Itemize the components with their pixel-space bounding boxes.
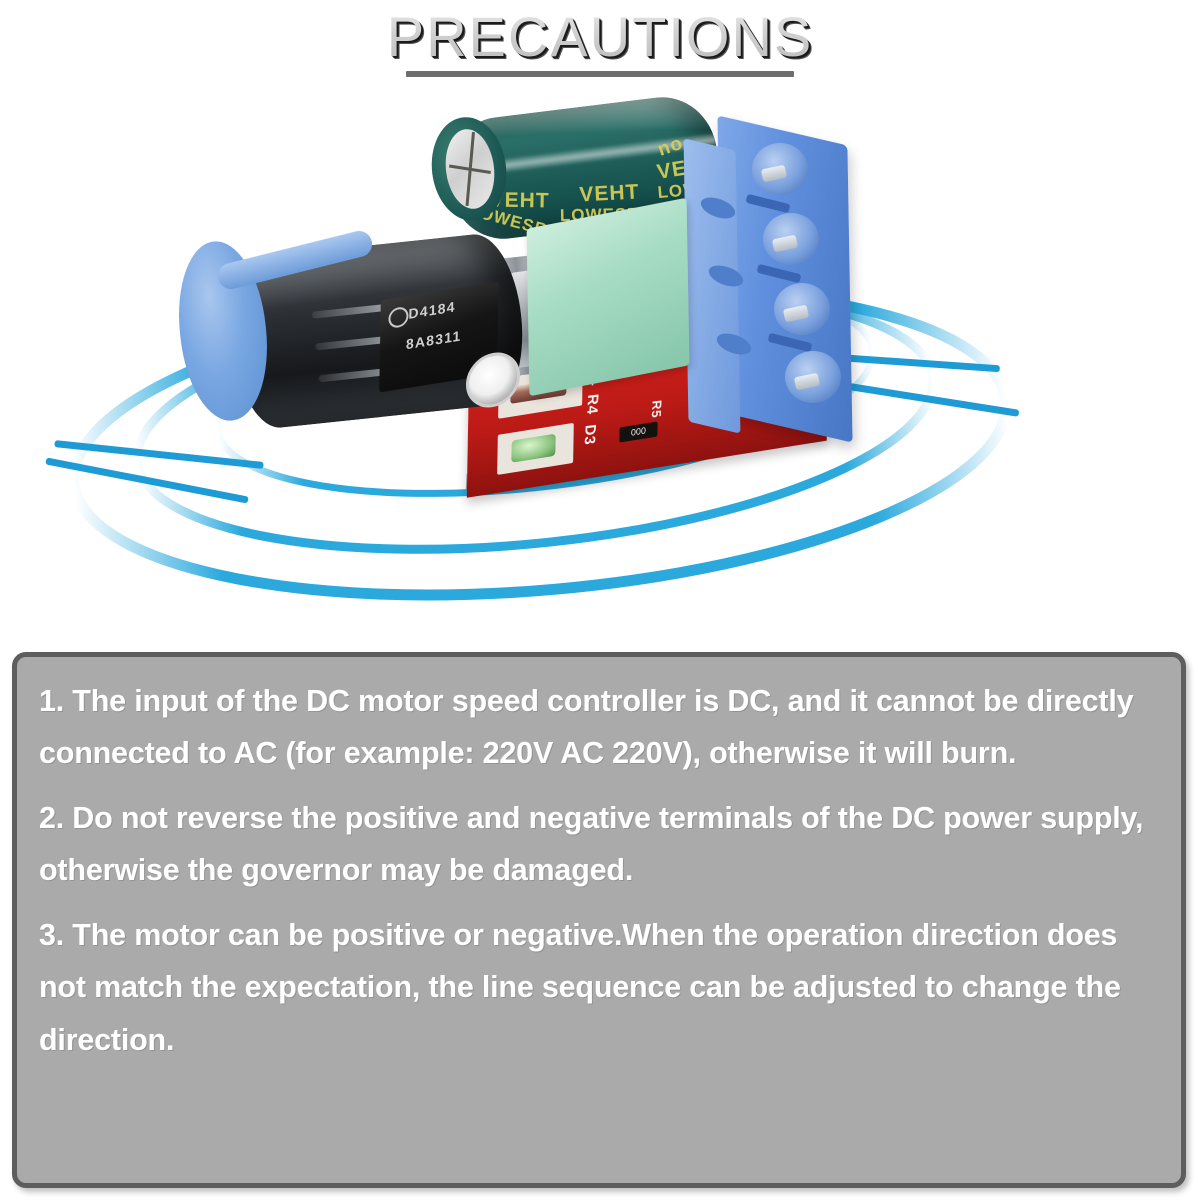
mosfet-part-number: D4184	[408, 298, 456, 322]
precautions-panel: 1. The input of the DC motor speed contr…	[12, 652, 1186, 1188]
silkscreen-r4: R4	[583, 393, 601, 415]
terminal-screw-3[interactable]	[774, 283, 830, 335]
silkscreen-d3: D3	[581, 424, 599, 446]
precaution-item-2: 2. Do not reverse the positive and negat…	[39, 792, 1159, 897]
product-hero-image: VEHT LOWESR VEHT LOWESR VEHT LOWE no	[0, 90, 1200, 635]
silkscreen-r5: R5	[649, 399, 665, 419]
terminal-screw-2[interactable]	[763, 213, 819, 265]
inductor-block	[527, 198, 690, 396]
capacitor-brand-label-2: VEHT	[579, 180, 640, 207]
title-underline-rule	[406, 71, 794, 77]
precaution-item-1: 1. The input of the DC motor speed contr…	[39, 675, 1159, 780]
manufacturer-logo-icon	[388, 306, 408, 329]
resistor-r5: 000	[619, 421, 657, 442]
speed-controller-module: VEHT LOWESR VEHT LOWESR VEHT LOWE no	[180, 95, 970, 515]
precaution-item-3: 3. The motor can be positive or negative…	[39, 909, 1159, 1066]
terminal-screw-4[interactable]	[785, 351, 841, 403]
mosfet-date-code: 8A8311	[406, 327, 462, 352]
page-title: PRECAUTIONS	[381, 8, 820, 65]
title-block: PRECAUTIONS	[0, 8, 1200, 77]
terminal-screw-1[interactable]	[752, 143, 808, 195]
